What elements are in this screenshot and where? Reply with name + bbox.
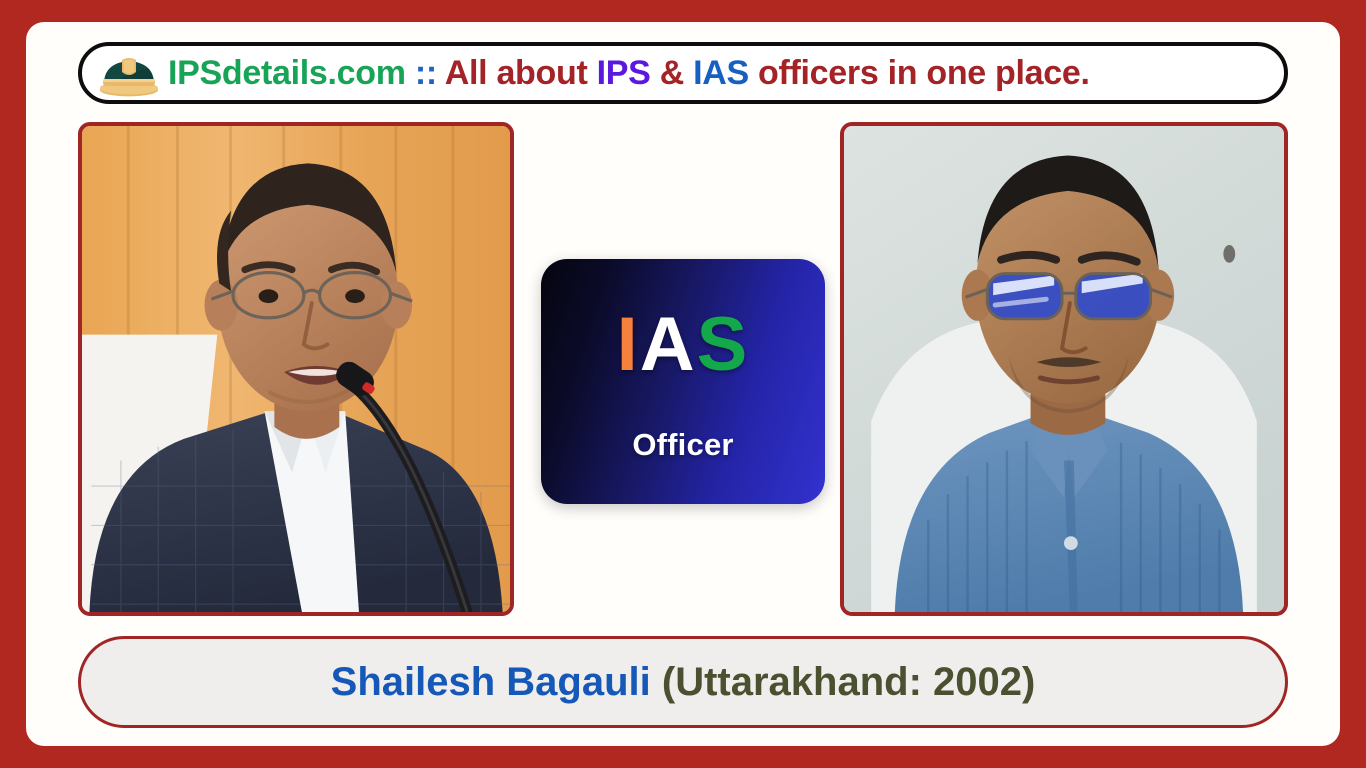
badge-letter-a: A <box>640 302 697 387</box>
officer-name-text: Shailesh Bagauli (Uttarakhand: 2002) <box>331 662 1036 702</box>
officer-cadre: (Uttarakhand: 2002) <box>651 660 1036 704</box>
tagline-ias: IAS <box>693 54 749 92</box>
site-header-text: IPSdetails.com :: All about IPS & IAS of… <box>168 56 1090 90</box>
photos-row: IAS Officer <box>78 122 1288 616</box>
badge-letter-i: I <box>617 302 640 387</box>
site-name: IPSdetails.com <box>168 54 406 92</box>
ias-badge-letters: IAS <box>617 307 750 383</box>
card-inner-surface: IPSdetails.com :: All about IPS & IAS of… <box>26 22 1340 746</box>
tagline-lead: All about <box>445 54 597 92</box>
police-cap-icon <box>98 49 160 97</box>
officer-name: Shailesh Bagauli <box>331 660 651 704</box>
tagline-tail: officers in one place. <box>749 54 1090 92</box>
card-outer-frame: IPSdetails.com :: All about IPS & IAS of… <box>0 0 1366 768</box>
badge-letter-s: S <box>697 302 750 387</box>
officer-name-bar: Shailesh Bagauli (Uttarakhand: 2002) <box>78 636 1288 728</box>
tagline-ips: IPS <box>597 54 651 92</box>
officer-cadre-value: (Uttarakhand: 2002) <box>662 660 1035 704</box>
officer-photo-speaking <box>78 122 514 616</box>
header-separator: :: <box>406 54 445 92</box>
site-header-banner: IPSdetails.com :: All about IPS & IAS of… <box>78 42 1288 104</box>
tagline-amp: & <box>651 54 694 92</box>
badge-subtitle: Officer <box>632 427 733 463</box>
officer-photo-portrait <box>840 122 1288 616</box>
ias-officer-badge: IAS Officer <box>541 259 825 504</box>
